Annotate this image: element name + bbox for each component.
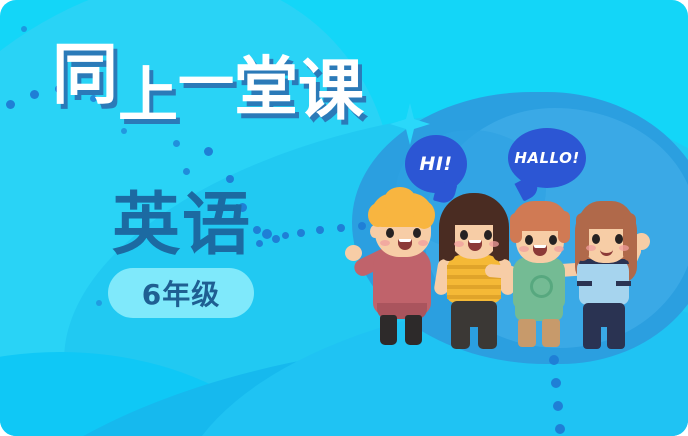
title-char-1: 同 xyxy=(52,42,118,108)
hi-speech-bubble: HI! xyxy=(405,135,467,193)
title-char-2: 上 xyxy=(118,66,178,126)
grade-badge-label: 6年级 xyxy=(142,273,220,313)
title-char-5: 课 xyxy=(298,58,364,124)
title-char-3: 一 xyxy=(178,56,234,112)
grade-badge: 6年级 xyxy=(108,268,254,318)
page-title: 同 上 一 堂 课 xyxy=(52,42,364,126)
students-illustration xyxy=(355,185,655,345)
hi-bubble-text: HI! xyxy=(419,153,452,175)
subject-label: 英语 xyxy=(112,192,252,260)
hallo-bubble-text: HALLO! xyxy=(514,149,579,167)
title-char-4: 堂 xyxy=(234,56,298,120)
hallo-speech-bubble: HALLO! xyxy=(508,128,586,188)
course-banner-card: 同 上 一 堂 课 英语 6年级 HI! HALLO! xyxy=(0,0,688,436)
